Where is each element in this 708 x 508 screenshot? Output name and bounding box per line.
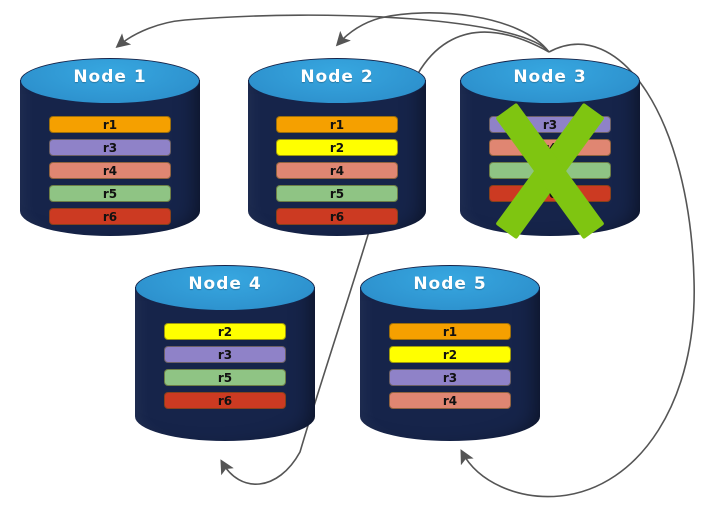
replica-row[interactable]: r5 [489,162,611,179]
replica-list: r1r2r3r4 [360,323,540,409]
replica-row[interactable]: r6 [276,208,397,225]
replica-row[interactable]: r5 [49,185,171,202]
node-5[interactable]: Node 5r1r2r3r4 [360,265,540,441]
diagram-canvas: Node 1r1r3r4r5r6Node 2r1r2r4r5r6Node 3r3… [0,0,708,508]
replica-row[interactable]: r5 [164,369,286,386]
replica-row[interactable]: r3 [164,346,286,363]
edge-to-node-2 [338,13,549,52]
replica-row[interactable]: r6 [164,392,286,409]
node-3[interactable]: Node 3r3r4r5r6 [460,58,640,236]
replica-row[interactable]: r4 [49,162,171,179]
replica-list: r2r3r5r6 [135,323,315,409]
node-label: Node 1 [20,67,200,87]
replica-row[interactable]: r3 [489,116,611,133]
replica-row[interactable]: r4 [276,162,397,179]
replica-row[interactable]: r3 [389,369,511,386]
replica-list: r3r4r5r6 [460,116,640,202]
replica-row[interactable]: r1 [276,116,397,133]
node-label: Node 5 [360,274,540,294]
replica-row[interactable]: r2 [276,139,397,156]
replica-row[interactable]: r1 [389,323,511,340]
replica-row[interactable]: r4 [389,392,511,409]
replica-row[interactable]: r1 [49,116,171,133]
replica-list: r1r2r4r5r6 [248,116,426,225]
node-label: Node 3 [460,67,640,87]
node-2[interactable]: Node 2r1r2r4r5r6 [248,58,426,236]
replica-row[interactable]: r3 [49,139,171,156]
node-label: Node 2 [248,67,426,87]
replica-row[interactable]: r2 [389,346,511,363]
node-4[interactable]: Node 4r2r3r5r6 [135,265,315,441]
replica-row[interactable]: r6 [489,185,611,202]
replica-row[interactable]: r6 [49,208,171,225]
replica-row[interactable]: r5 [276,185,397,202]
replica-row[interactable]: r4 [489,139,611,156]
replica-list: r1r3r4r5r6 [20,116,200,225]
edge-to-node-1 [118,15,549,52]
replica-row[interactable]: r2 [164,323,286,340]
node-label: Node 4 [135,274,315,294]
node-1[interactable]: Node 1r1r3r4r5r6 [20,58,200,236]
